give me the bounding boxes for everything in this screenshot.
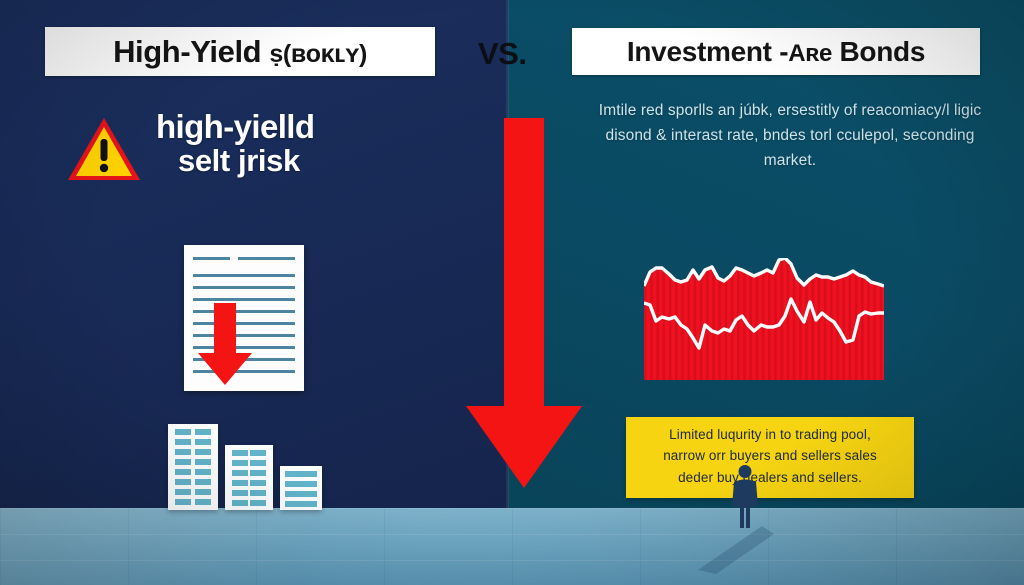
right-title-text: Investment -Aʀe Bonds (627, 36, 925, 68)
declining-buildings-icon (168, 424, 328, 510)
right-title-plate: Investment -Aʀe Bonds (572, 28, 980, 75)
volatility-area-chart (644, 258, 884, 380)
warning-triangle-icon (66, 116, 142, 182)
right-panel-paragraph: Imtile red sporlls an júbk, ersestitly o… (592, 98, 988, 173)
building-bar-2 (225, 445, 273, 510)
chart-area-fill (644, 258, 884, 380)
document-page (184, 245, 304, 391)
liquidity-callout-box: Limited luqurity in to trading pool, nar… (626, 417, 914, 498)
warning-line-2: selt jrisk (156, 145, 456, 178)
warning-line-1: high-yielld (156, 110, 456, 145)
high-yield-warning-text: high-yielld selt jrisk (156, 110, 456, 178)
document-declining-icon (184, 245, 304, 391)
callout-line-3: deder buy dealers and sellers. (636, 467, 904, 488)
large-red-down-arrow-icon (466, 118, 582, 488)
floor-shading (0, 508, 1024, 585)
callout-line-1: Limited luqurity in to trading pool, (636, 424, 904, 445)
building-bar-3 (280, 466, 322, 510)
building-bar-1 (168, 424, 218, 510)
left-title-text: High-Yield ṣ(ʙoᴋʟʏ) (113, 34, 367, 70)
floor-surface (0, 508, 1024, 585)
left-title-plate: High-Yield ṣ(ʙoᴋʟʏ) (45, 27, 435, 76)
infographic-canvas: High-Yield ṣ(ʙoᴋʟʏ) high-yielld selt jri… (0, 0, 1024, 585)
callout-line-2: narrow orr buyers and sellers sales (636, 445, 904, 466)
red-down-arrow-icon (198, 303, 252, 385)
vs-label: VS. (478, 36, 526, 72)
person-shadow (690, 524, 780, 576)
person-silhouette (728, 464, 762, 530)
